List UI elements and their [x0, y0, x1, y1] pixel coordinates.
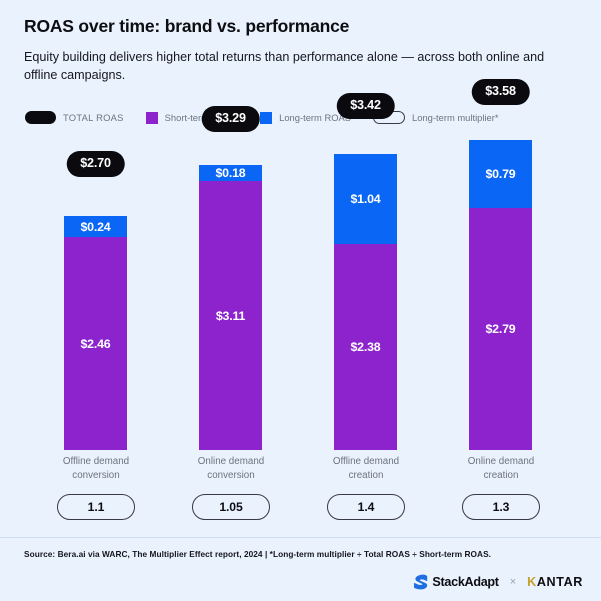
bar-group-online-demand-creation[interactable]: $3.58 $0.79 $2.79 [463, 140, 538, 450]
axis-category-online-demand-creation: Online demand creation 1.3 [446, 455, 556, 520]
kantar-wordmark: ANTAR [537, 575, 583, 589]
axis-category-offline-demand-conversion: Offline demand conversion 1.1 [41, 455, 151, 520]
total-roas-badge: $3.29 [201, 106, 260, 132]
kantar-logo: KANTAR [527, 575, 583, 589]
bar-stack: $0.79 $2.79 [469, 140, 532, 450]
multiplier-badge: 1.1 [57, 494, 135, 520]
legend-label-long-term-multiplier: Long-term multiplier* [412, 112, 499, 123]
bar-segment-label-long-term-roas: $1.04 [350, 192, 380, 206]
multiplier-badge: 1.3 [462, 494, 540, 520]
bar-segment-short-term-roas[interactable]: $2.46 [64, 237, 127, 450]
bar-segment-label-long-term-roas: $0.79 [485, 167, 515, 181]
page-title: ROAS over time: brand vs. performance [24, 16, 577, 37]
axis-label-line-1: Online demand [176, 455, 286, 469]
multiplier-badge: 1.05 [192, 494, 270, 520]
stackadapt-mark-icon [413, 574, 428, 590]
legend-swatch-long-term-roas-icon [260, 112, 272, 124]
stackadapt-wordmark: StackAdapt [432, 575, 498, 589]
brand-separator-icon: × [510, 576, 516, 588]
source-note: Source: Bera.ai via WARC, The Multiplier… [24, 549, 491, 559]
bar-segment-label-short-term-roas: $2.46 [80, 337, 110, 351]
legend-swatch-short-term-roas-icon [146, 112, 158, 124]
axis-label-line-1: Online demand [446, 455, 556, 469]
axis-label-line-1: Offline demand [41, 455, 151, 469]
bar-segment-long-term-roas[interactable]: $0.79 [469, 140, 532, 208]
brand-bar: StackAdapt × KANTAR [413, 574, 583, 590]
bar-segment-label-long-term-roas: $0.18 [215, 166, 245, 180]
axis-label-line-2: conversion [41, 469, 151, 483]
stackadapt-logo: StackAdapt [413, 574, 498, 590]
bar-segment-label-short-term-roas: $3.11 [216, 309, 245, 323]
bar-segment-short-term-roas[interactable]: $2.79 [469, 208, 532, 450]
bar-segment-short-term-roas[interactable]: $2.38 [334, 244, 397, 450]
axis-label-line-2: creation [446, 469, 556, 483]
bar-group-online-demand-conversion[interactable]: $3.29 $0.18 $3.11 [193, 140, 268, 450]
total-roas-badge: $3.58 [471, 79, 530, 105]
chart-legend: TOTAL ROAS Short-term ROAS Long-term ROA… [25, 111, 521, 124]
axis-label-line-2: conversion [176, 469, 286, 483]
bar-group-offline-demand-conversion[interactable]: $2.70 $0.24 $2.46 [58, 140, 133, 450]
total-roas-badge: $2.70 [66, 151, 125, 177]
bar-segment-label-short-term-roas: $2.38 [350, 340, 380, 354]
multiplier-badge: 1.4 [327, 494, 405, 520]
legend-swatch-total-roas-icon [25, 111, 56, 124]
axis-category-online-demand-conversion: Online demand conversion 1.05 [176, 455, 286, 520]
axis-label-line-2: creation [311, 469, 421, 483]
bar-segment-long-term-roas[interactable]: $0.24 [64, 216, 127, 237]
bar-segment-long-term-roas[interactable]: $0.18 [199, 165, 262, 181]
category-axis: Offline demand conversion 1.1 Online dem… [0, 455, 601, 530]
total-roas-badge: $3.42 [336, 93, 395, 119]
footer-divider [0, 537, 601, 538]
legend-label-total-roas: TOTAL ROAS [63, 112, 124, 123]
chart-header: ROAS over time: brand vs. performance Eq… [24, 16, 577, 85]
bar-segment-label-short-term-roas: $2.79 [485, 322, 515, 336]
bar-stack: $1.04 $2.38 [334, 154, 397, 450]
bar-stack: $0.24 $2.46 [64, 216, 127, 450]
plot-area: $2.70 $0.24 $2.46 $3.29 $0.18 $3.11 [0, 140, 601, 450]
axis-label-line-1: Offline demand [311, 455, 421, 469]
bar-group-offline-demand-creation[interactable]: $3.42 $1.04 $2.38 [328, 140, 403, 450]
bar-segment-label-long-term-roas: $0.24 [80, 220, 110, 234]
axis-category-offline-demand-creation: Offline demand creation 1.4 [311, 455, 421, 520]
kantar-k-glyph: K [527, 575, 537, 589]
chart-card: ROAS over time: brand vs. performance Eq… [0, 0, 601, 601]
legend-item-total-roas[interactable]: TOTAL ROAS [25, 111, 124, 124]
bar-segment-long-term-roas[interactable]: $1.04 [334, 154, 397, 244]
bar-segment-short-term-roas[interactable]: $3.11 [199, 181, 262, 450]
bar-stack: $0.18 $3.11 [199, 165, 262, 450]
